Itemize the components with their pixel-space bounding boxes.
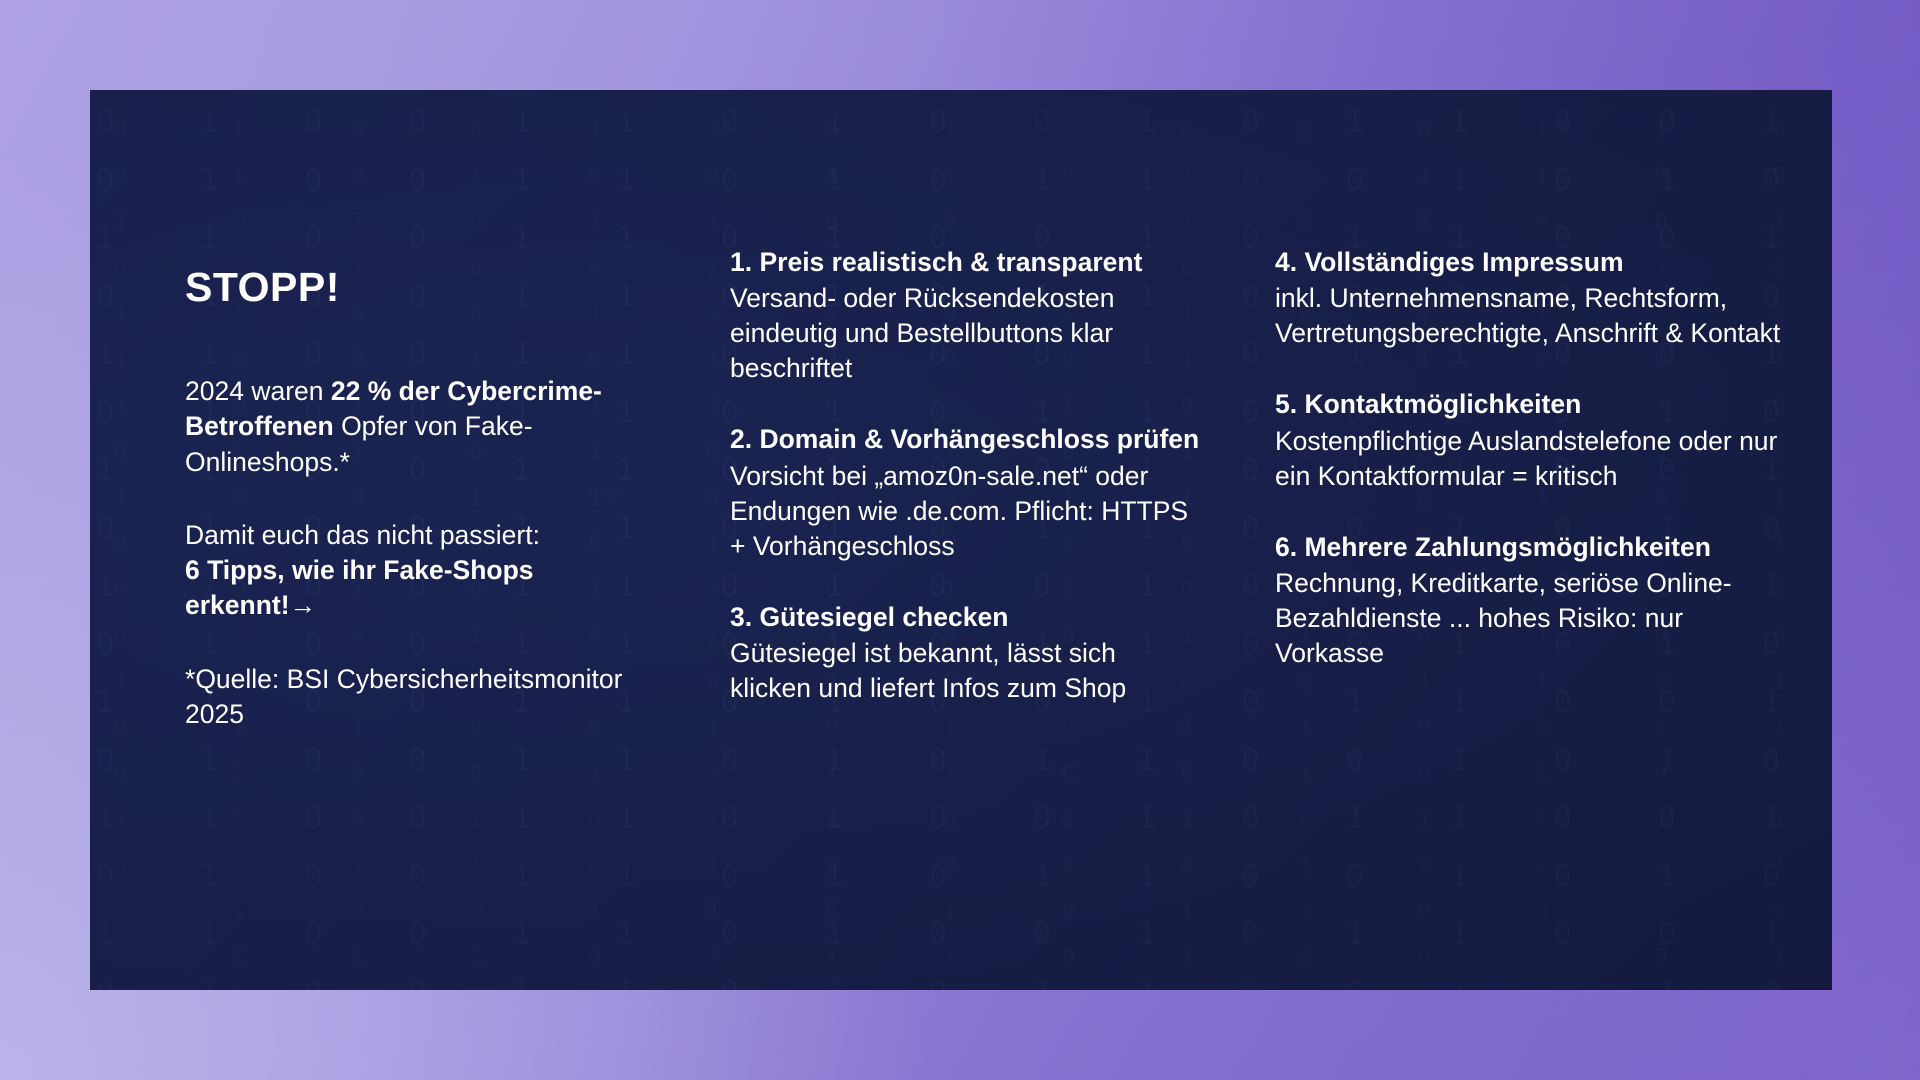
tip-title: 2. Domain & Vorhängeschloss prüfen	[730, 422, 1200, 456]
slide-canvas: 0 1 0 0 1 1 0 1 0 0 1 0 1 1 0 0 1 0 1 0 …	[0, 0, 1920, 1080]
tip-title: 3. Gütesiegel checken	[730, 600, 1200, 634]
source-note: *Quelle: BSI Cybersicherheitsmonitor 202…	[185, 662, 625, 732]
arrow-right-icon: →	[290, 590, 317, 620]
tip-title: 1. Preis realistisch & transparent	[730, 245, 1200, 279]
tip-title: 4. Vollständiges Impressum	[1275, 245, 1785, 279]
panel-content: STOPP! 2024 waren 22 % der Cybercrime-Be…	[90, 90, 1832, 990]
tip-item: 2. Domain & Vorhängeschloss prüfen Vorsi…	[730, 422, 1200, 563]
tip-body: Gütesiegel ist bekannt, lässt sich klick…	[730, 636, 1200, 706]
cta-lead: Damit euch das nicht passiert:	[185, 520, 540, 550]
statistic-paragraph: 2024 waren 22 % der Cybercrime-Betroffen…	[185, 374, 625, 480]
cta-paragraph: Damit euch das nicht passiert:6 Tipps, w…	[185, 518, 625, 624]
tip-body: inkl. Unternehmensname, Rechtsform, Vert…	[1275, 281, 1785, 351]
statistic-prefix: 2024 waren	[185, 376, 331, 406]
page-title: STOPP!	[185, 265, 625, 310]
tip-body: Kostenpflichtige Auslandstelefone oder n…	[1275, 424, 1785, 494]
content-panel: 0 1 0 0 1 1 0 1 0 0 1 0 1 1 0 0 1 0 1 0 …	[90, 90, 1832, 990]
intro-column: STOPP! 2024 waren 22 % der Cybercrime-Be…	[185, 265, 625, 758]
tip-item: 3. Gütesiegel checken Gütesiegel ist bek…	[730, 600, 1200, 706]
cta-highlight: 6 Tipps, wie ihr Fake-Shops erkennt!	[185, 555, 534, 620]
tip-body: Rechnung, Kreditkarte, seriöse Online-Be…	[1275, 566, 1785, 671]
tips-column-left: 1. Preis realistisch & transparent Versa…	[730, 245, 1200, 706]
tip-item: 4. Vollständiges Impressum inkl. Unterne…	[1275, 245, 1785, 351]
tip-item: 5. Kontaktmöglichkeiten Kostenpflichtige…	[1275, 387, 1785, 493]
tip-title: 5. Kontaktmöglichkeiten	[1275, 387, 1785, 421]
tip-body: Vorsicht bei „amoz0n-sale.net“ oder Endu…	[730, 459, 1200, 564]
tip-title: 6. Mehrere Zahlungsmöglichkeiten	[1275, 530, 1785, 564]
tip-body: Versand- oder Rücksendekosten eindeutig …	[730, 281, 1200, 386]
tips-column-right: 4. Vollständiges Impressum inkl. Unterne…	[1275, 245, 1785, 671]
tip-item: 1. Preis realistisch & transparent Versa…	[730, 245, 1200, 386]
tip-item: 6. Mehrere Zahlungsmöglichkeiten Rechnun…	[1275, 530, 1785, 671]
